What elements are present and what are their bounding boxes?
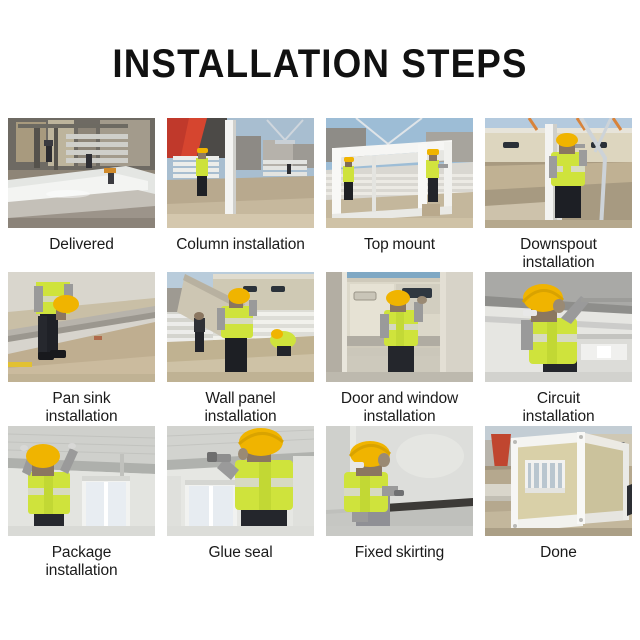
step-caption-5: Pan sink installation [8, 390, 155, 426]
step-caption-9: Package installation [8, 544, 155, 580]
step-card-4[interactable]: Downspout installation [485, 118, 632, 272]
top-mount-photo [326, 118, 473, 228]
caption-line-1: Circuit [537, 390, 580, 407]
step-caption-8: Circuit installation [485, 390, 632, 426]
caption-line-1: Wall panel [205, 390, 275, 407]
caption-line-2: installation [326, 408, 473, 426]
step-card-6[interactable]: Wall panel installation [167, 272, 314, 426]
caption-line-2: installation [167, 408, 314, 426]
page-title: INSTALLATION STEPS [26, 42, 615, 86]
step-card-12[interactable]: Done [485, 426, 632, 580]
caption-line-1: Delivered [49, 236, 114, 253]
step-caption-2: Column installation [167, 236, 314, 254]
step-card-1[interactable]: Delivered [8, 118, 155, 272]
step-caption-11: Fixed skirting [326, 544, 473, 562]
circuit-installation-photo [485, 272, 632, 382]
step-caption-10: Glue seal [167, 544, 314, 562]
step-caption-1: Delivered [8, 236, 155, 254]
caption-line-2: installation [8, 408, 155, 426]
caption-line-1: Column installation [176, 236, 305, 253]
step-card-5[interactable]: Pan sink installation [8, 272, 155, 426]
delivered-panels-photo [8, 118, 155, 228]
step-card-2[interactable]: Column installation [167, 118, 314, 272]
steps-grid: Delivered [8, 118, 632, 580]
fixed-skirting-photo [326, 426, 473, 536]
caption-line-2: installation [485, 408, 632, 426]
caption-line-1: Fixed skirting [355, 544, 444, 561]
step-card-7[interactable]: Door and window installation [326, 272, 473, 426]
caption-line-1: Pan sink [52, 390, 110, 407]
step-caption-4: Downspout installation [485, 236, 632, 272]
caption-line-2: installation [8, 562, 155, 580]
door-window-installation-photo [326, 272, 473, 382]
caption-line-2: installation [485, 254, 632, 272]
wall-panel-installation-photo [167, 272, 314, 382]
caption-line-1: Top mount [364, 236, 435, 253]
caption-line-1: Door and window [341, 390, 458, 407]
step-caption-7: Door and window installation [326, 390, 473, 426]
caption-line-1: Downspout [520, 236, 597, 253]
pan-sink-installation-photo [8, 272, 155, 382]
step-caption-12: Done [485, 544, 632, 562]
step-card-3[interactable]: Top mount [326, 118, 473, 272]
step-caption-6: Wall panel installation [167, 390, 314, 426]
caption-line-1: Package [52, 544, 112, 561]
step-caption-3: Top mount [326, 236, 473, 254]
step-card-11[interactable]: Fixed skirting [326, 426, 473, 580]
downspout-installation-photo [485, 118, 632, 228]
installation-steps-poster: INSTALLATION STEPS [0, 0, 640, 640]
caption-line-1: Done [540, 544, 577, 561]
caption-line-1: Glue seal [208, 544, 272, 561]
step-card-9[interactable]: Package installation [8, 426, 155, 580]
column-installation-photo [167, 118, 314, 228]
package-installation-photo [8, 426, 155, 536]
done-container-house-photo [485, 426, 632, 536]
step-card-10[interactable]: Glue seal [167, 426, 314, 580]
step-card-8[interactable]: Circuit installation [485, 272, 632, 426]
glue-seal-photo [167, 426, 314, 536]
